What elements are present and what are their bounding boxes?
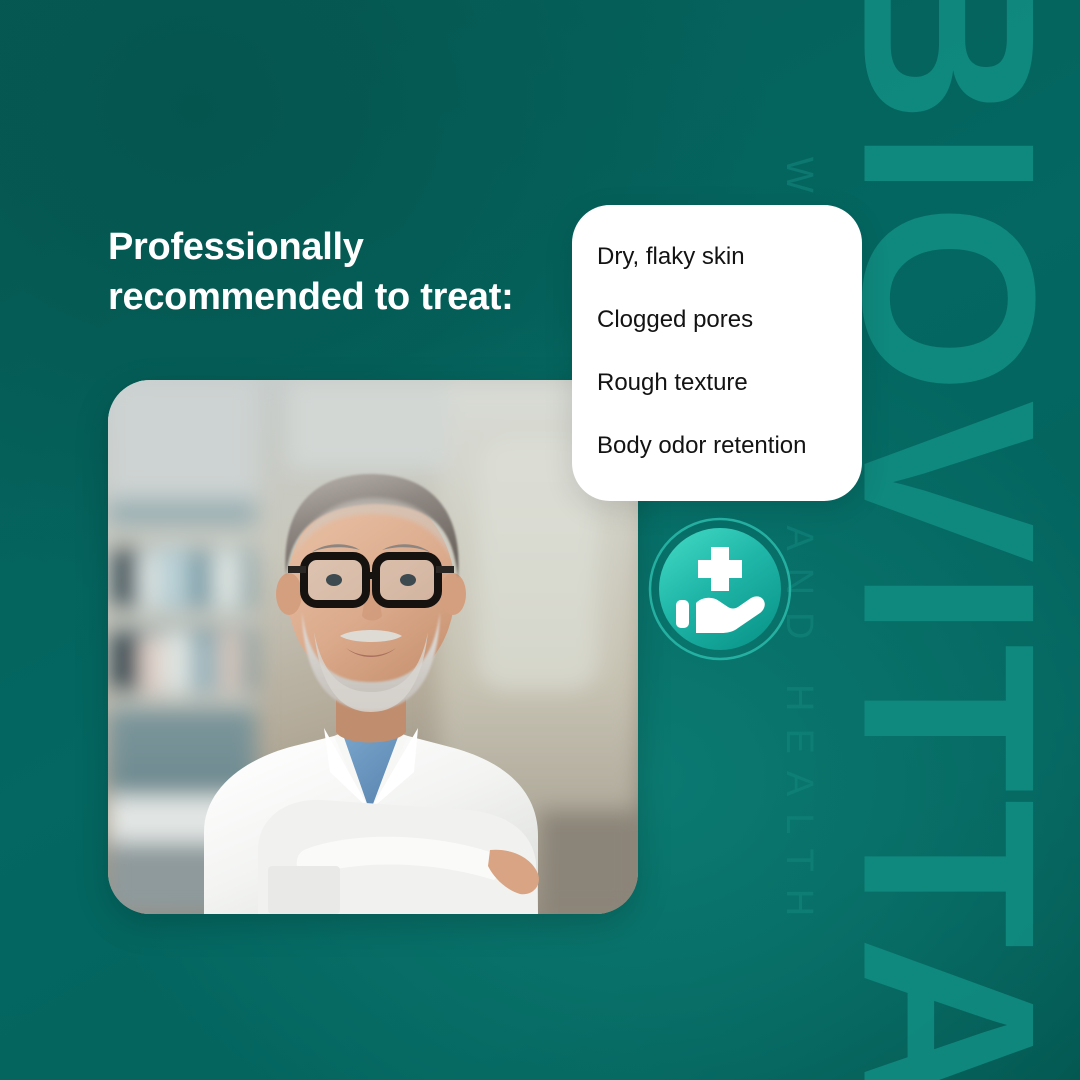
pharmacist-photo-image	[108, 380, 638, 914]
conditions-list: Dry, flaky skin Clogged pores Rough text…	[597, 245, 852, 458]
conditions-card: Dry, flaky skin Clogged pores Rough text…	[572, 205, 862, 501]
pharmacist-photo	[108, 380, 638, 914]
list-item: Rough texture	[597, 371, 852, 395]
brand-logo	[648, 517, 792, 661]
page-title: Professionally recommended to treat:	[108, 222, 578, 322]
watermark-brand-name: BIOVITTA	[827, 0, 1072, 1080]
list-item: Body odor retention	[597, 434, 852, 458]
promo-poster: BIOVITTA WELLNESS AND HEALTH Professiona…	[0, 0, 1080, 1080]
hand-cross-icon	[648, 517, 792, 661]
list-item: Clogged pores	[597, 308, 852, 332]
list-item: Dry, flaky skin	[597, 245, 852, 269]
